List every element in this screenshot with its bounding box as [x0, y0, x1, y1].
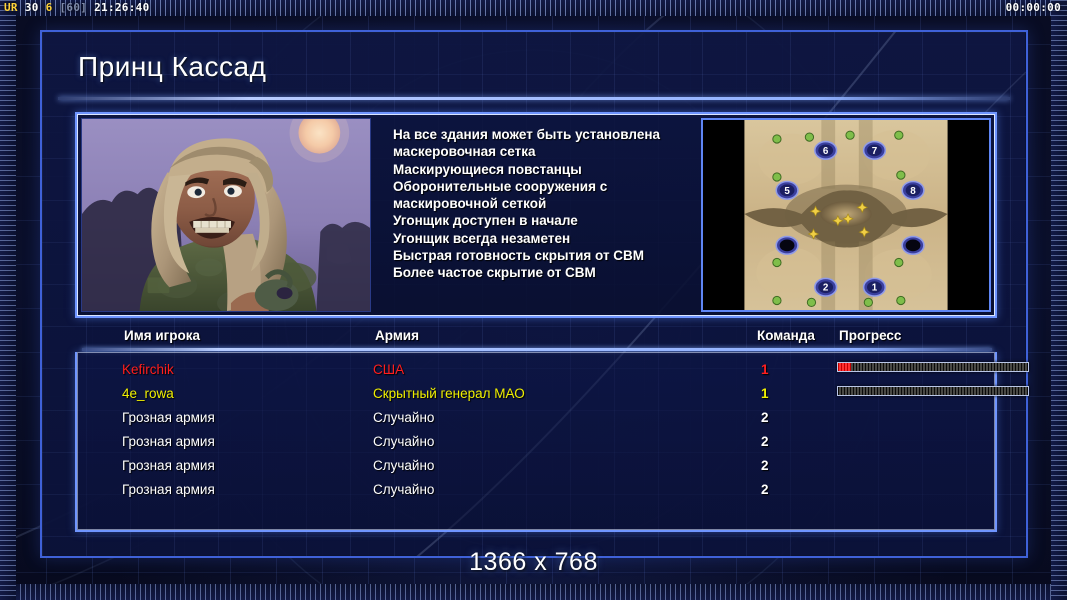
title-divider — [58, 97, 1010, 100]
table-row[interactable]: Грозная армияСлучайно2 — [77, 478, 995, 502]
map-start-position[interactable] — [776, 237, 798, 255]
player-team[interactable]: 2 — [761, 406, 769, 430]
description-line: маскеровочная сетка — [393, 143, 695, 160]
player-army[interactable]: Случайно — [373, 478, 434, 502]
page-title: Принц Кассад — [58, 42, 1010, 92]
map-start-position[interactable]: 2 — [815, 278, 837, 296]
map-tree-marker — [846, 131, 854, 139]
map-tree-marker — [807, 298, 815, 306]
player-list: KefirchikСША14e_rowaСкрытный генерал МАО… — [75, 352, 997, 532]
player-name: Грозная армия — [122, 430, 215, 454]
player-progress-bar — [837, 362, 1029, 372]
debug-stats-readout: UR 30 6 [60] 21:26:40 — [4, 1, 150, 14]
map-tree-marker — [864, 298, 872, 306]
table-row[interactable]: KefirchikСША1 — [77, 358, 995, 382]
description-line: На все здания может быть установлена — [393, 126, 695, 143]
column-header-progress: Прогресс — [839, 328, 901, 343]
map-preview[interactable]: 675821 — [701, 118, 991, 312]
debug-value-1: 30 — [25, 1, 39, 14]
map-tree-marker — [897, 171, 905, 179]
debug-bracket: [60] — [59, 1, 87, 14]
map-start-position[interactable]: 1 — [864, 278, 886, 296]
map-tree-marker — [773, 258, 781, 266]
player-army[interactable]: Случайно — [373, 406, 434, 430]
player-team[interactable]: 2 — [761, 454, 769, 478]
player-name: Грозная армия — [122, 406, 215, 430]
player-progress-bar — [837, 386, 1029, 396]
table-row[interactable]: Грозная армияСлучайно2 — [77, 406, 995, 430]
general-portrait — [81, 118, 371, 312]
map-start-position[interactable] — [902, 237, 924, 255]
debug-label: UR — [4, 1, 18, 14]
player-name: 4e_rowa — [122, 382, 174, 406]
player-progress-fill — [838, 363, 851, 371]
description-line: Угонщик всегда незаметен — [393, 230, 695, 247]
window-ruler-right — [1051, 0, 1067, 600]
map-start-position[interactable]: 6 — [815, 142, 837, 160]
table-row[interactable]: Грозная армияСлучайно2 — [77, 454, 995, 478]
map-start-label: 7 — [872, 146, 878, 157]
window-ruler-top — [0, 0, 1067, 16]
map-start-label: 6 — [823, 146, 829, 157]
header-divider — [82, 348, 992, 351]
debug-value-2: 6 — [46, 1, 53, 14]
description-line: Маскирующиеся повстанцы — [393, 161, 695, 178]
map-start-position[interactable]: 7 — [864, 142, 886, 160]
map-start-label: 2 — [823, 283, 829, 294]
map-tree-marker — [895, 258, 903, 266]
column-header-army: Армия — [375, 328, 419, 343]
player-army[interactable]: Скрытный генерал МАО — [373, 382, 525, 406]
faction-description: На все здания может быть установлена мас… — [371, 118, 701, 312]
window-ruler-left — [0, 0, 16, 600]
map-tree-marker — [773, 296, 781, 304]
map-start-position[interactable]: 5 — [776, 181, 798, 199]
player-team[interactable]: 1 — [761, 358, 769, 382]
table-row[interactable]: Грозная армияСлучайно2 — [77, 430, 995, 454]
player-team[interactable]: 1 — [761, 382, 769, 406]
player-team[interactable]: 2 — [761, 430, 769, 454]
map-start-label: 8 — [910, 186, 916, 197]
player-team[interactable]: 2 — [761, 478, 769, 502]
map-tree-marker — [773, 173, 781, 181]
window-ruler-bottom — [0, 584, 1067, 600]
table-row[interactable]: 4e_rowaСкрытный генерал МАО1 — [77, 382, 995, 406]
resolution-label: 1366 x 768 — [0, 548, 1067, 577]
title-bar: Принц Кассад — [58, 42, 1010, 96]
map-tree-marker — [773, 135, 781, 143]
description-line: Угонщик доступен в начале — [393, 212, 695, 229]
player-army[interactable]: Случайно — [373, 430, 434, 454]
faction-info-panel: На все здания может быть установлена мас… — [75, 112, 997, 318]
game-timer: 00:00:00 — [1006, 1, 1061, 14]
map-tree-marker — [897, 296, 905, 304]
player-name: Kefirchik — [122, 358, 174, 382]
description-line: Более частое скрытие от СВМ — [393, 264, 695, 281]
map-start-label: 5 — [784, 186, 790, 197]
player-army[interactable]: Случайно — [373, 454, 434, 478]
column-header-team: Команда — [757, 328, 815, 343]
debug-time: 21:26:40 — [94, 1, 149, 14]
map-start-label: 1 — [872, 283, 878, 294]
player-name: Грозная армия — [122, 454, 215, 478]
column-header-name: Имя игрока — [124, 328, 200, 343]
lobby-dialog: Принц Кассад — [40, 30, 1028, 558]
description-line: Оборонительные сооружения с — [393, 178, 695, 195]
player-name: Грозная армия — [122, 478, 215, 502]
description-line: Быстрая готовность скрытия от СВМ — [393, 247, 695, 264]
description-line: маскировочной сеткой — [393, 195, 695, 212]
map-tree-marker — [895, 131, 903, 139]
map-tree-marker — [805, 133, 813, 141]
player-army[interactable]: США — [373, 358, 404, 382]
player-table-header: Имя игрока Армия Команда Прогресс — [82, 328, 992, 350]
map-start-position[interactable]: 8 — [902, 181, 924, 199]
